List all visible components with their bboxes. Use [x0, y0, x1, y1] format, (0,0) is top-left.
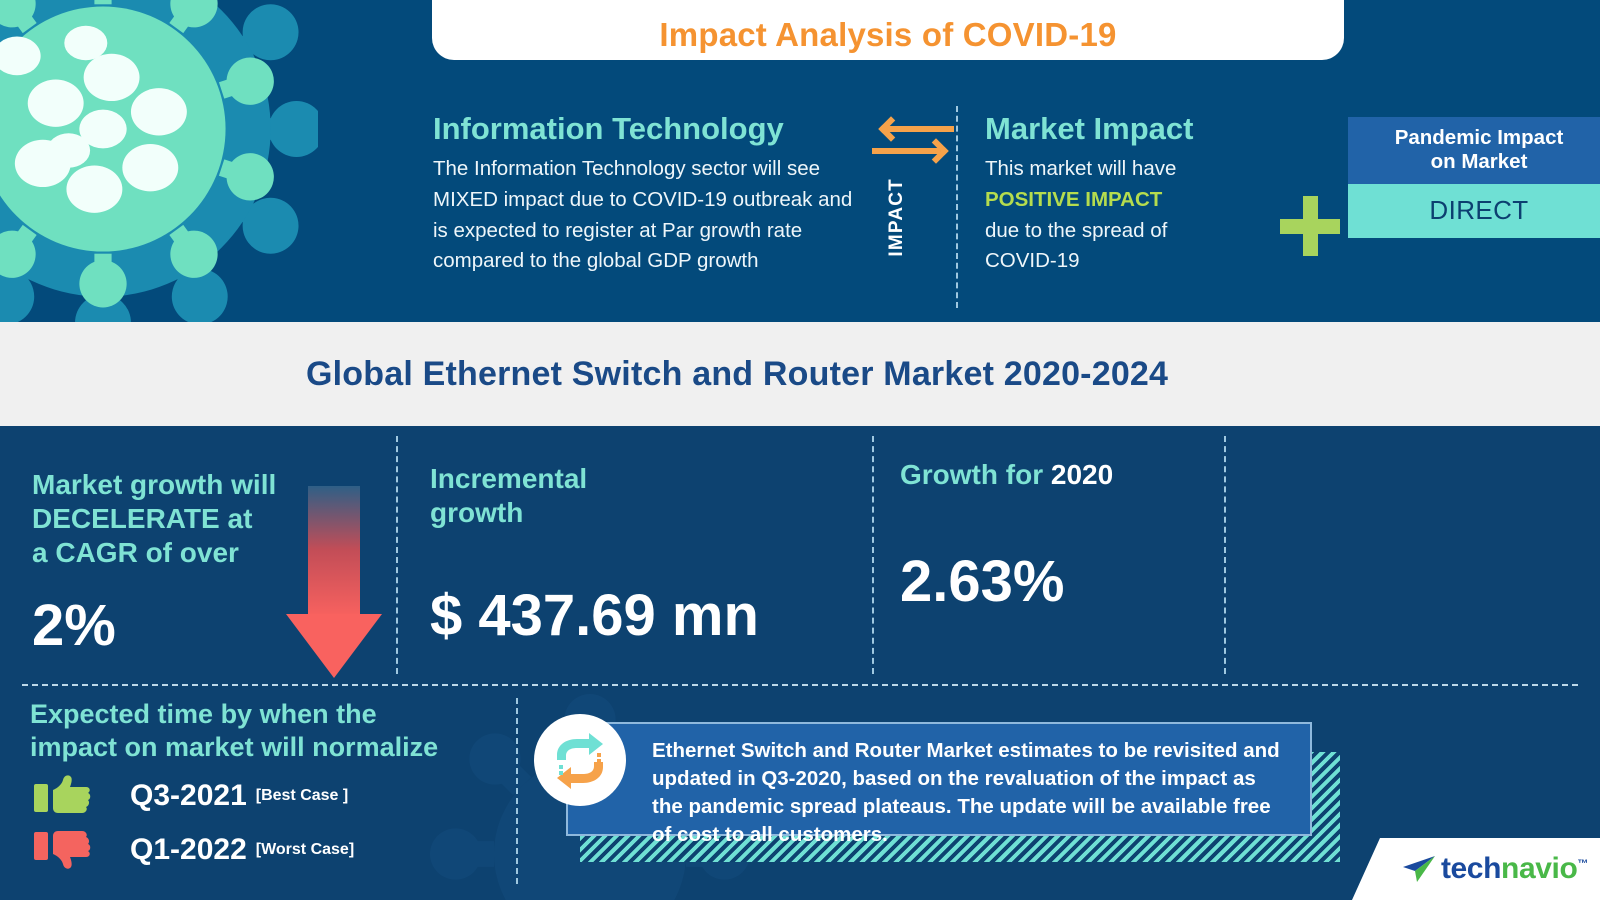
it-heading: Information Technology	[433, 112, 865, 145]
arrow-right-icon	[872, 140, 956, 162]
logo-wordmark: technavio™	[1441, 852, 1588, 886]
worst-case-row: Q1-2022 [Worst Case]	[34, 828, 354, 872]
metric-incremental-growth: Incremental growth $ 437.69 mn	[430, 462, 730, 649]
report-title: Global Ethernet Switch and Router Market…	[306, 355, 1168, 394]
pandemic-header-line2: on Market	[1356, 150, 1600, 174]
thumbs-down-icon	[34, 828, 92, 872]
impact-vertical-label: IMPACT	[886, 178, 908, 257]
arrow-left-icon	[872, 118, 956, 140]
note-box: Ethernet Switch and Router Market estima…	[566, 722, 1312, 836]
paper-plane-icon	[1401, 854, 1437, 884]
best-case-note: [Best Case ]	[256, 787, 348, 805]
market-impact-line2: due to the spread of	[985, 216, 1285, 247]
pandemic-header-line1: Pandemic Impact	[1356, 126, 1600, 150]
pandemic-impact-header: Pandemic Impact on Market	[1348, 117, 1600, 184]
logo-part-tech: tech	[1441, 852, 1501, 885]
growth-value: 2.63%	[900, 548, 1220, 615]
market-impact-line3: COVID-19	[985, 246, 1285, 277]
normalize-heading: Expected time by when the impact on mark…	[30, 698, 510, 765]
incremental-value: $ 437.69 mn	[430, 582, 730, 649]
refresh-icon	[551, 733, 609, 789]
best-case-row: Q3-2021 [Best Case ]	[34, 774, 348, 818]
incremental-heading-line1: Incremental	[430, 462, 730, 496]
information-technology-block: Information Technology The Information T…	[433, 112, 865, 277]
market-impact-heading: Market Impact	[985, 112, 1285, 145]
metrics-section: Market growth will DECELERATE at a CAGR …	[0, 426, 1600, 684]
refresh-icon-badge	[534, 714, 626, 806]
page-title: Impact Analysis of COVID-19	[659, 16, 1116, 54]
infographic-root: Impact Analysis of COVID-19 Information …	[0, 0, 1600, 900]
it-body: The Information Technology sector will s…	[433, 154, 865, 276]
positive-impact-highlight: POSITIVE IMPACT	[985, 185, 1285, 216]
normalize-heading-line2: impact on market will normalize	[30, 731, 510, 764]
logo-trademark: ™	[1577, 858, 1588, 870]
vertical-divider	[516, 698, 518, 884]
growth-heading-accent: Growth for	[900, 459, 1043, 490]
note-text: Ethernet Switch and Router Market estima…	[652, 739, 1280, 846]
metric-growth-2020: Growth for 2020 2.63%	[900, 458, 1220, 615]
horizontal-divider	[22, 684, 1578, 686]
best-case-period: Q3-2021	[130, 779, 247, 813]
pandemic-impact-box: Pandemic Impact on Market DIRECT	[1348, 117, 1600, 238]
market-impact-line1: This market will have	[985, 154, 1285, 185]
vertical-divider	[396, 436, 398, 674]
plus-icon	[1280, 196, 1340, 256]
worst-case-period: Q1-2022	[130, 833, 247, 867]
incremental-heading-line2: growth	[430, 496, 730, 530]
bidirectional-arrows	[872, 118, 956, 162]
vertical-divider	[872, 436, 874, 674]
title-banner: Impact Analysis of COVID-19	[432, 0, 1344, 60]
normalize-heading-line1: Expected time by when the	[30, 698, 510, 731]
vertical-divider	[1224, 436, 1226, 674]
growth-heading-year: 2020	[1051, 459, 1113, 490]
down-arrow-icon	[286, 486, 382, 686]
worst-case-note: [Worst Case]	[256, 841, 354, 859]
logo-part-navio: navio	[1501, 852, 1577, 885]
report-title-band: Global Ethernet Switch and Router Market…	[0, 322, 1600, 426]
coronavirus-illustration	[0, 0, 318, 322]
technavio-logo[interactable]: technavio™	[1352, 838, 1600, 900]
thumbs-up-icon	[34, 774, 92, 818]
top-section: Impact Analysis of COVID-19 Information …	[0, 0, 1600, 322]
vertical-divider	[956, 106, 958, 308]
pandemic-impact-value: DIRECT	[1348, 184, 1600, 238]
market-impact-block: Market Impact This market will have POSI…	[985, 112, 1285, 277]
